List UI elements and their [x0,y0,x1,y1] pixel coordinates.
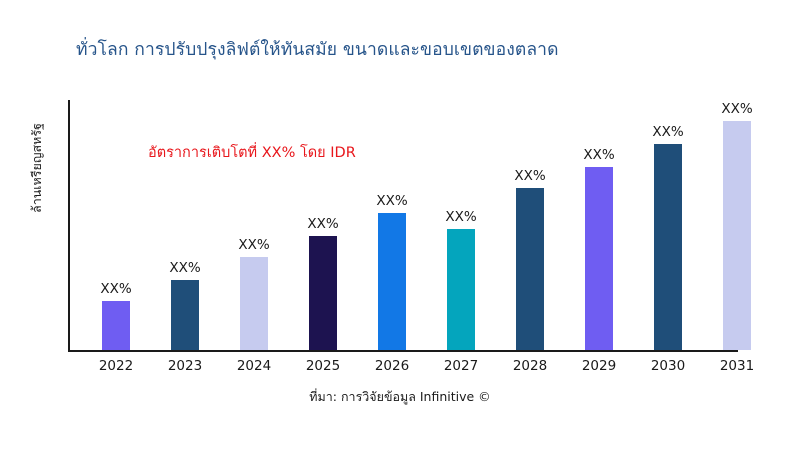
bar-value-label-2028: XX% [500,168,560,184]
bar-group: XX% [723,95,751,350]
x-tick-2023: 2023 [150,358,220,374]
x-axis-line [68,350,738,352]
y-axis-label: ล้านเหรียญสหรัฐ [27,68,47,268]
bar-group: XX% [378,187,406,350]
plot-area: XX%XX%XX%XX%XX%XX%XX%XX%XX%XX% [68,100,738,352]
bar-value-label-2031: XX% [707,101,767,117]
bar-2027[interactable] [447,229,475,350]
x-tick-2024: 2024 [219,358,289,374]
bar-2025[interactable] [309,236,337,350]
bar-value-label-2023: XX% [155,260,215,276]
bar-group: XX% [585,141,613,350]
bar-group: XX% [240,231,268,350]
bar-value-label-2029: XX% [569,147,629,163]
bar-value-label-2027: XX% [431,209,491,225]
bar-2031[interactable] [723,121,751,350]
bar-value-label-2022: XX% [86,281,146,297]
y-axis-line [68,100,70,352]
bar-2022[interactable] [102,301,130,350]
bar-2026[interactable] [378,213,406,350]
x-tick-2027: 2027 [426,358,496,374]
cagr-annotation: อัตราการเติบโตที่ XX% โดย IDR [148,141,356,164]
source-caption: ที่มา: การวิจัยข้อมูล Infinitive © [0,387,800,407]
bar-2029[interactable] [585,167,613,350]
x-tick-2030: 2030 [633,358,703,374]
bar-group: XX% [447,203,475,350]
bar-2030[interactable] [654,144,682,350]
bar-group: XX% [309,210,337,350]
bar-2024[interactable] [240,257,268,350]
bar-group: XX% [171,254,199,350]
bar-value-label-2024: XX% [224,237,284,253]
x-tick-2022: 2022 [81,358,151,374]
bar-value-label-2026: XX% [362,193,422,209]
chart-page: ทั่วโลก การปรับปรุงลิฟต์ให้ทันสมัย ขนาดแ… [0,0,800,450]
bar-group: XX% [102,275,130,350]
x-tick-2028: 2028 [495,358,565,374]
x-tick-2026: 2026 [357,358,427,374]
x-tick-2031: 2031 [702,358,772,374]
bar-2028[interactable] [516,188,544,350]
bar-value-label-2030: XX% [638,124,698,140]
bar-group: XX% [516,162,544,350]
x-tick-2025: 2025 [288,358,358,374]
bar-value-label-2025: XX% [293,216,353,232]
x-tick-2029: 2029 [564,358,634,374]
bar-2023[interactable] [171,280,199,350]
bar-group: XX% [654,118,682,350]
page-title: ทั่วโลก การปรับปรุงลิฟต์ให้ทันสมัย ขนาดแ… [76,38,776,62]
